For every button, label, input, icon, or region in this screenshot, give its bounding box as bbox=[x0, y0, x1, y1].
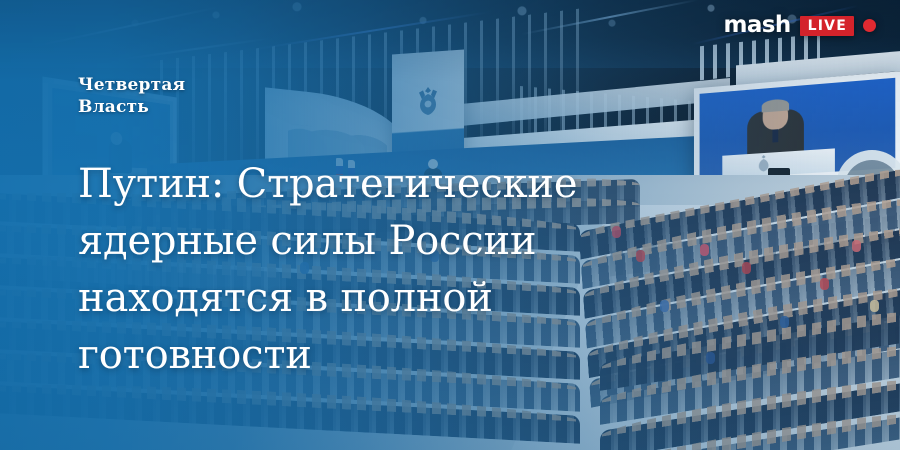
brand-label: Четвертая Власть bbox=[78, 74, 185, 119]
recording-dot-icon bbox=[863, 19, 876, 32]
live-badge: LIVE bbox=[800, 16, 854, 36]
mash-live-watermark: mash LIVE bbox=[724, 14, 877, 37]
headline: Путин: Стратегические ядерные силы Росси… bbox=[78, 156, 678, 384]
news-card: Четвертая Власть Путин: Стратегические я… bbox=[0, 0, 900, 450]
mash-logo-text: mash bbox=[724, 14, 791, 37]
brand-line-1: Четвертая bbox=[78, 74, 185, 96]
brand-line-2: Власть bbox=[78, 96, 185, 118]
